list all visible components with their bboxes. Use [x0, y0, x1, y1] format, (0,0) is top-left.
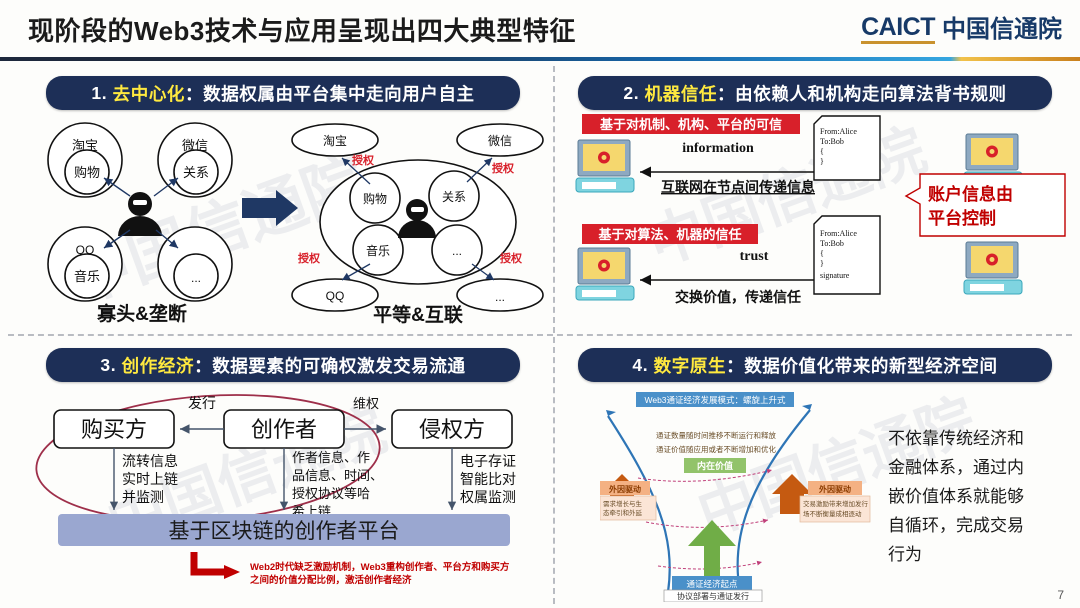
panel-4-rest: 数据价值化带来的新型经济空间	[744, 353, 997, 378]
bubble-inner-label: 关系	[183, 165, 209, 180]
q4-right-driver-line: 场不断衡量成相逐动	[803, 509, 862, 518]
panel-3-rest: 数据要素的可确权激发交易流通	[212, 353, 465, 378]
note2-line: }	[820, 259, 824, 268]
computer-icon	[576, 248, 634, 300]
edge-publish-label: 发行	[188, 395, 216, 411]
bubble-inner-label: 音乐	[74, 269, 100, 284]
col2-line: 授权协议等哈	[292, 486, 370, 501]
outer-node-label: 微信	[488, 134, 512, 148]
row2-cn-label: 交换价值，传递信任	[675, 289, 801, 305]
q3-red-hook-arrow	[194, 552, 226, 572]
note1-line: From:Alice	[820, 127, 857, 136]
q3-red-note-line: 之间的价值分配比例，激活创作者经济	[250, 574, 412, 586]
node-infringer-label: 侵权方	[419, 417, 485, 442]
q4-left-driver-line: 需求增长与生	[603, 499, 643, 508]
q4-bottom-tag-text: 通证经济起点	[686, 579, 738, 589]
panel-2-keyword: 机器信任	[645, 81, 717, 106]
panel-1-diagram: 淘宝 购物 微信 关系 QQ 音乐 ... ... 寡头&垄断	[30, 112, 550, 324]
col1-line: 流转信息	[122, 453, 178, 469]
side-text-line: 行为	[888, 540, 1074, 569]
panel-2-diagram: 基于对机制、机构、平台的可信 information 互联网在节点间传递信息 F…	[568, 112, 1073, 324]
red-banner-1-text: 基于对机制、机构、平台的可信	[599, 117, 782, 132]
panel-4-keyword: 数字原生	[654, 353, 726, 378]
panel-1-header: 1. 去中心化 ： 数据权属由平台集中走向用户自主	[46, 76, 520, 110]
panel-3-diagram: 购买方 创作者 侵权方 发行 维权 流转信息 实时上链 并监测 作者信息、作 品…	[30, 386, 550, 602]
note1-line: To:Bob	[820, 137, 844, 146]
panel-2-rest: 由依赖人和机构走向算法背书规则	[735, 81, 1007, 106]
bubble-inner-label: ...	[191, 271, 201, 285]
transition-arrow-icon	[242, 190, 298, 226]
q3-red-arrowhead-icon	[224, 565, 240, 579]
row1-cn-label: 互联网在节点间传递信息	[661, 179, 815, 195]
q3-column-1: 流转信息 实时上链 并监测	[122, 453, 178, 505]
col1-line: 实时上链	[122, 471, 178, 487]
q1-right-caption: 平等&互联	[373, 303, 463, 324]
quadrant-horizontal-separator	[8, 334, 1072, 336]
message-note-2: From:Alice To:Bob { } signature	[814, 216, 880, 294]
q4-right-driver-line: 交易激励带来增加发行	[803, 499, 869, 508]
panel-3-colon: ：	[194, 353, 212, 378]
q4-mid-line: 通证价值随应用或者不断增加和优化	[656, 444, 776, 454]
q4-inner-value-text: 内在价值	[697, 460, 733, 471]
note2-line: To:Bob	[820, 239, 844, 248]
q3-column-3: 电子存证 智能比对 权属监测	[460, 453, 516, 505]
panel-4-diagram: Web3通证经济发展模式：螺旋上升式 通证数量随时间推移不断运行和释放 通证价值…	[600, 386, 872, 602]
page-title: 现阶段的Web3技术与应用呈现出四大典型特征	[28, 11, 576, 48]
panel-3-number: 3.	[100, 355, 116, 376]
q4-right-driver-title: 外因驱动	[819, 484, 851, 494]
panel-4-colon: ：	[726, 353, 744, 378]
logo-abbr-text: CAICT	[861, 14, 935, 44]
q4-bottom-label-text: 协议部署与通证发行	[677, 591, 749, 601]
row1-en-label: information	[682, 141, 754, 156]
col2-line: 作者信息、作	[292, 450, 370, 465]
q4-top-banner-text: Web3通证经济发展模式：螺旋上升式	[644, 395, 786, 405]
panel-4-header: 4. 数字原生 ： 数据价值化带来的新型经济空间	[578, 348, 1052, 382]
logo-cn-text: 中国信通院	[942, 16, 1062, 44]
inner-node-label: 购物	[363, 191, 387, 206]
callout-line: 账户信息由	[928, 184, 1013, 204]
user-icon	[118, 192, 162, 236]
q3-column-2: 作者信息、作 品信息、时间、 授权协议等哈 希上链	[292, 450, 383, 519]
node-creator-label: 创作者	[251, 417, 317, 442]
panel-2-colon: ：	[717, 81, 735, 106]
note1-line: {	[820, 147, 824, 156]
note2-line: From:Alice	[820, 229, 857, 238]
panel-2-header: 2. 机器信任 ： 由依赖人和机构走向算法背书规则	[578, 76, 1052, 110]
side-text-line: 金融体系，通过内	[888, 453, 1074, 482]
col3-line: 智能比对	[460, 471, 516, 487]
col3-line: 电子存证	[460, 453, 516, 469]
q1-right-group: 购物 关系 音乐 ... 淘宝 微信 QQ ... 授权 授权 授权 授权 平等…	[292, 124, 543, 324]
col3-line: 权属监测	[460, 489, 516, 505]
q3-red-note-line: Web2时代缺乏激励机制，Web3重构创作者、平台方和购买方	[250, 561, 510, 573]
header-divider-rule	[0, 57, 1080, 61]
panel-1-keyword: 去中心化	[113, 81, 185, 106]
inner-node-label: 关系	[442, 190, 466, 204]
red-banner-2-text: 基于对算法、机器的信任	[597, 227, 741, 242]
computer-icon	[964, 242, 1022, 294]
outer-node-label: QQ	[326, 289, 345, 303]
bubble-inner-label: 购物	[74, 165, 100, 180]
panel-1-rest: 数据权属由平台集中走向用户自主	[203, 81, 475, 106]
q4-left-driver-line: 态牵引和外延	[603, 508, 643, 517]
inner-node-label: 音乐	[366, 243, 390, 258]
q4-left-driver-title: 外因驱动	[609, 484, 641, 494]
platform-bar-label: 基于区块链的创作者平台	[169, 520, 400, 543]
panel-2-number: 2.	[623, 83, 639, 104]
panel-4-side-text: 不依靠传统经济和 金融体系，通过内 嵌价值体系就能够 自循环，完成交易 行为	[888, 424, 1074, 569]
panel-4-number: 4.	[632, 355, 648, 376]
side-text-line: 自循环，完成交易	[888, 511, 1074, 540]
q4-mid-line: 通证数量随时间推移不断运行和释放	[656, 430, 776, 440]
message-note-1: From:Alice To:Bob { }	[814, 116, 880, 180]
col1-line: 并监测	[122, 489, 164, 505]
inner-node-label: ...	[452, 244, 462, 258]
page-number: 7	[1057, 588, 1064, 602]
q4-curve-right-arrowhead-icon	[802, 404, 812, 410]
q4-right-driver-body-box	[800, 496, 870, 522]
callout-line: 平台控制	[928, 208, 996, 228]
node-buyer-label: 购买方	[81, 417, 147, 442]
edge-rights-label: 维权	[353, 396, 379, 411]
panel-3-keyword: 创作经济	[122, 353, 194, 378]
auth-label: 授权	[298, 251, 321, 265]
auth-label: 授权	[500, 251, 523, 265]
computer-icon	[576, 140, 634, 192]
auth-label: 授权	[492, 161, 515, 175]
note2-line: {	[820, 249, 824, 258]
q2-callout: 账户信息由 平台控制	[906, 174, 1065, 236]
side-text-line: 嵌价值体系就能够	[888, 482, 1074, 511]
caict-logo: CAICT 中国信通院	[861, 14, 1062, 44]
col2-line: 品信息、时间、	[292, 468, 383, 483]
row2-en-label: trust	[740, 249, 769, 264]
panel-1-number: 1.	[91, 83, 107, 104]
q1-left-caption: 寡头&垄断	[96, 302, 187, 324]
auth-label: 授权	[352, 153, 375, 167]
panel-1-colon: ：	[185, 81, 203, 106]
outer-node-label: ...	[495, 290, 505, 304]
side-text-line: 不依靠传统经济和	[888, 424, 1074, 453]
outer-node-label: 淘宝	[323, 134, 347, 148]
panel-3-header: 3. 创作经济 ： 数据要素的可确权激发交易流通	[46, 348, 520, 382]
note2-line: signature	[820, 271, 850, 280]
q1-left-group: 淘宝 购物 微信 关系 QQ 音乐 ... ... 寡头&垄断	[48, 123, 232, 324]
q4-curve-left-arrowhead-icon	[606, 410, 616, 416]
note1-line: }	[820, 157, 824, 166]
slide-header: 现阶段的Web3技术与应用呈现出四大典型特征 CAICT 中国信通院	[0, 0, 1080, 56]
